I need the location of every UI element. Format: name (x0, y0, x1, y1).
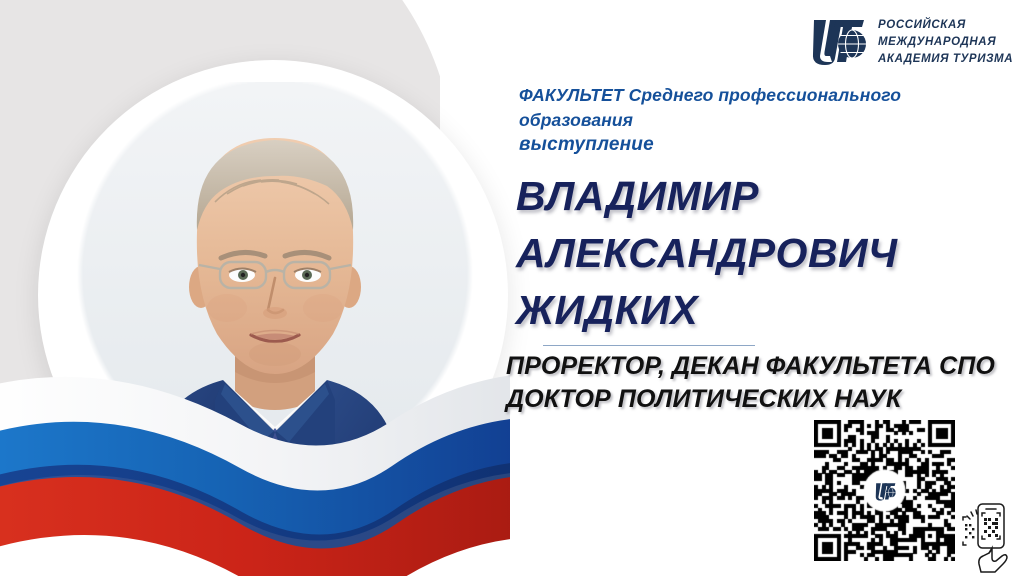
qr-code[interactable] (814, 420, 955, 561)
hand-holding-phone-scan-qr-icon (961, 500, 1009, 574)
speaker-patronymic: АЛЕКСАНДРОВИЧ (516, 230, 898, 276)
speaker-portrait (75, 82, 475, 502)
speaker-first-name: ВЛАДИМИР (516, 173, 759, 219)
academy-logo-text: РОССИЙСКАЯ МЕЖДУНАРОДНАЯ АКАДЕМИЯ ТУРИЗМ… (878, 17, 1013, 68)
speaker-name: ВЛАДИМИР АЛЕКСАНДРОВИЧ ЖИДКИХ (516, 168, 1016, 339)
speaker-position-line-2: ДОКТОР ПОЛИТИЧЕСКИХ НАУК (506, 385, 901, 413)
qr-center-logo-icon (866, 472, 904, 510)
speaker-position: ПРОРЕКТОР, ДЕКАН ФАКУЛЬТЕТА СПО ДОКТОР П… (506, 350, 1024, 416)
speaker-position-line-1: ПРОРЕКТОР, ДЕКАН ФАКУЛЬТЕТА СПО (506, 352, 995, 380)
presentation-slide: РОССИЙСКАЯ МЕЖДУНАРОДНАЯ АКАДЕМИЯ ТУРИЗМ… (0, 0, 1024, 576)
portrait-illustration (75, 82, 475, 502)
faculty-label: ФАКУЛЬТЕТ Среднего профессионального обр… (519, 83, 949, 133)
rmat-monogram-globe-logo-icon (806, 14, 868, 71)
speaker-last-name: ЖИДКИХ (516, 287, 698, 333)
academy-logo: РОССИЙСКАЯ МЕЖДУНАРОДНАЯ АКАДЕМИЯ ТУРИЗМ… (806, 14, 1013, 71)
event-label: выступление (519, 134, 654, 156)
section-divider (543, 345, 755, 346)
